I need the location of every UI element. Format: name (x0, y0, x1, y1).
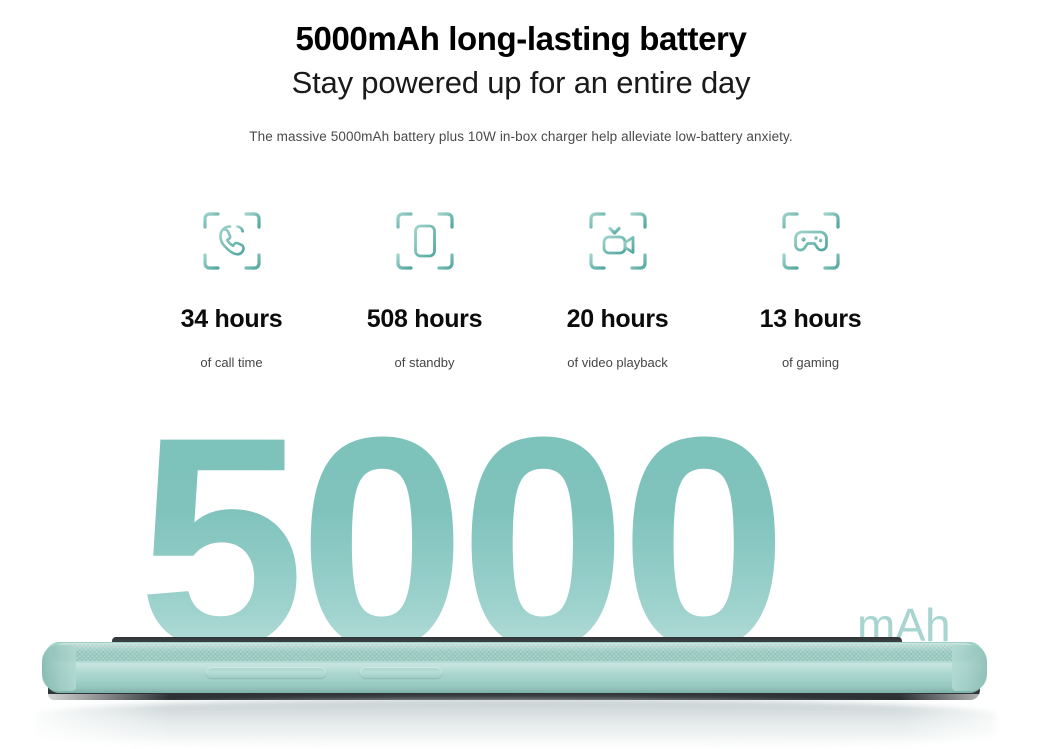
phone-top-sheen (56, 643, 973, 652)
phone-volume-button (206, 667, 326, 678)
phone-side-highlight (46, 663, 983, 673)
phone-shadow-fade-right (900, 694, 1042, 749)
video-camera-icon (521, 205, 714, 277)
stat-value: 34 hours (135, 305, 328, 334)
battery-feature-page: 5000mAh long-lasting battery Stay powere… (0, 0, 1042, 749)
phone-left-corner (42, 645, 76, 691)
page-description: The massive 5000mAh battery plus 10W in-… (0, 101, 1042, 144)
phone-call-icon (135, 205, 328, 277)
page-title: 5000mAh long-lasting battery (0, 0, 1042, 59)
hero-capacity-number: 5000 (138, 392, 781, 672)
stat-video-playback: 20 hours of video playback (521, 205, 714, 370)
stat-label: of call time (135, 355, 328, 370)
page-subtitle: Stay powered up for an entire day (0, 59, 1042, 101)
stat-call-time: 34 hours of call time (135, 205, 328, 370)
battery-stats-row: 34 hours of call time (135, 205, 907, 370)
stat-gaming: 13 hours of gaming (714, 205, 907, 370)
stat-standby: 508 hours of standby (328, 205, 521, 370)
phone-reflection-shadow (36, 699, 996, 749)
phone-shadow-fade-left (0, 694, 170, 749)
stat-value: 508 hours (328, 305, 521, 334)
stat-value: 13 hours (714, 305, 907, 334)
header-block: 5000mAh long-lasting battery Stay powere… (0, 0, 1042, 144)
stat-label: of video playback (521, 355, 714, 370)
stat-value: 20 hours (521, 305, 714, 334)
phone-product-image (42, 637, 987, 707)
phone-power-button (360, 667, 442, 678)
stat-label: of gaming (714, 355, 907, 370)
smartphone-standby-icon (328, 205, 521, 277)
phone-right-corner (952, 645, 987, 691)
gamepad-icon (714, 205, 907, 277)
stat-label: of standby (328, 355, 521, 370)
